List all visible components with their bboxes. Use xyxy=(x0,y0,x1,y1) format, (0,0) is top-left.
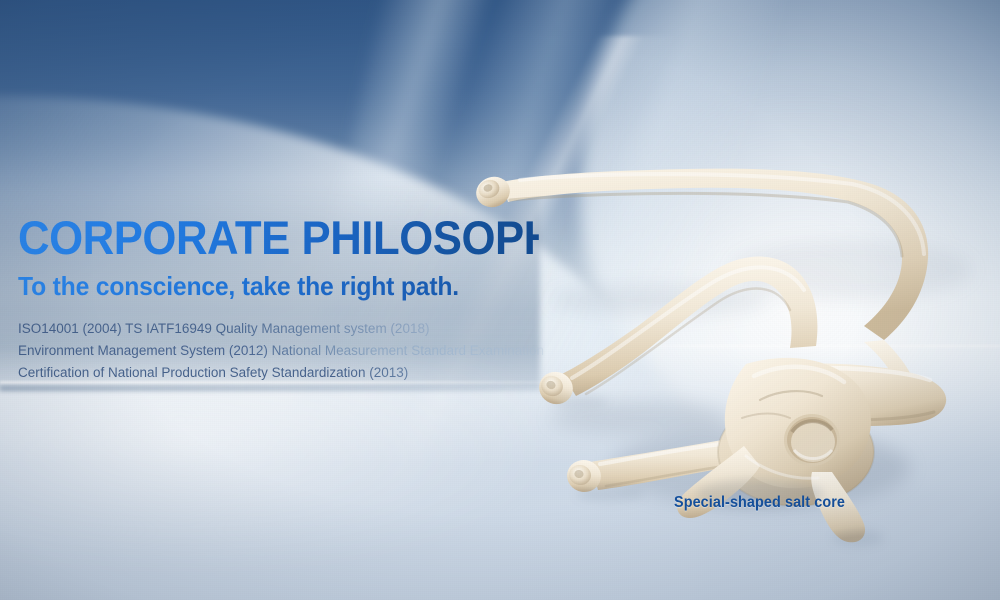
background-vignette xyxy=(0,0,1000,600)
corporate-philosophy-banner: CORPORATE PHILOSOPHY To the conscience, … xyxy=(0,0,1000,600)
